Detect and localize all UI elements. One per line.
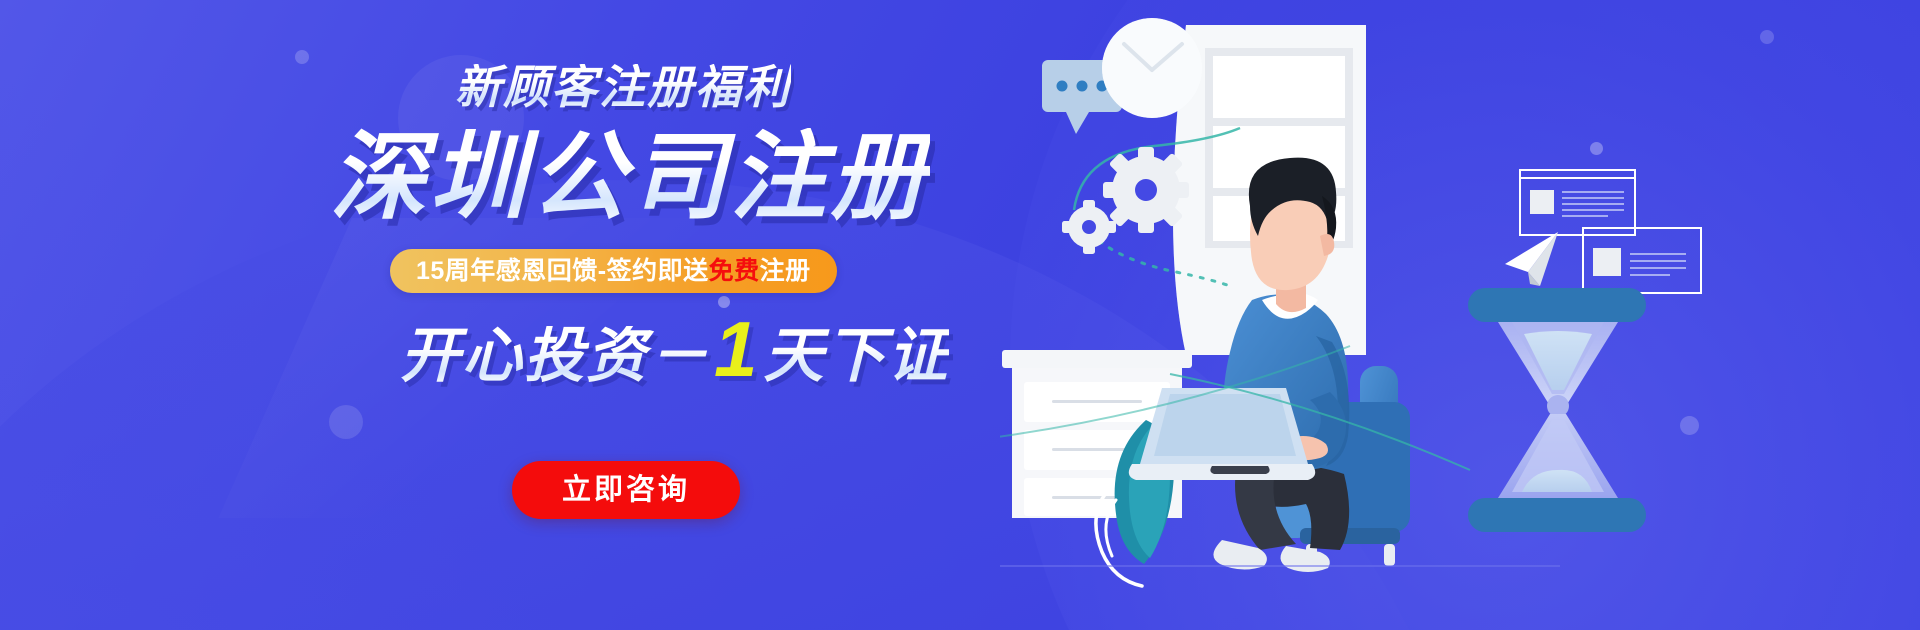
slogan-line: 开心投资－ 1 天下证 xyxy=(400,310,949,388)
promo-badge: 15周年感恩回馈-签约即送 免费 注册 xyxy=(390,249,837,293)
slogan-before: 开心投资－ xyxy=(400,326,710,386)
promo-badge-suffix: 注册 xyxy=(760,259,811,284)
illustration xyxy=(1000,0,1920,630)
page-title: 深圳公司注册 xyxy=(330,128,930,229)
eyebrow-headline: 新顾客注册福利 xyxy=(455,64,791,110)
promo-badge-prefix: 15周年感恩回馈-签约即送 xyxy=(416,259,709,284)
document-card-back xyxy=(1520,170,1635,235)
promo-badge-highlight: 免费 xyxy=(709,259,760,284)
consult-now-button[interactable]: 立即咨询 xyxy=(512,461,740,519)
slogan-number: 1 xyxy=(710,310,763,388)
consult-now-button-label: 立即咨询 xyxy=(562,476,690,505)
hourglass-icon xyxy=(1468,288,1646,532)
clock-icon xyxy=(1102,18,1202,118)
gear-small-icon xyxy=(1062,200,1116,254)
document-card-front xyxy=(1583,228,1701,293)
gear-large-icon xyxy=(1103,147,1189,233)
promo-banner: 新顾客注册福利 深圳公司注册 15周年感恩回馈-签约即送 免费 注册 开心投资－… xyxy=(0,0,1920,630)
copy-column: 新顾客注册福利 深圳公司注册 15周年感恩回馈-签约即送 免费 注册 开心投资－… xyxy=(0,0,1020,630)
paper-plane-icon xyxy=(1505,232,1558,286)
slogan-after: 天下证 xyxy=(763,326,949,386)
